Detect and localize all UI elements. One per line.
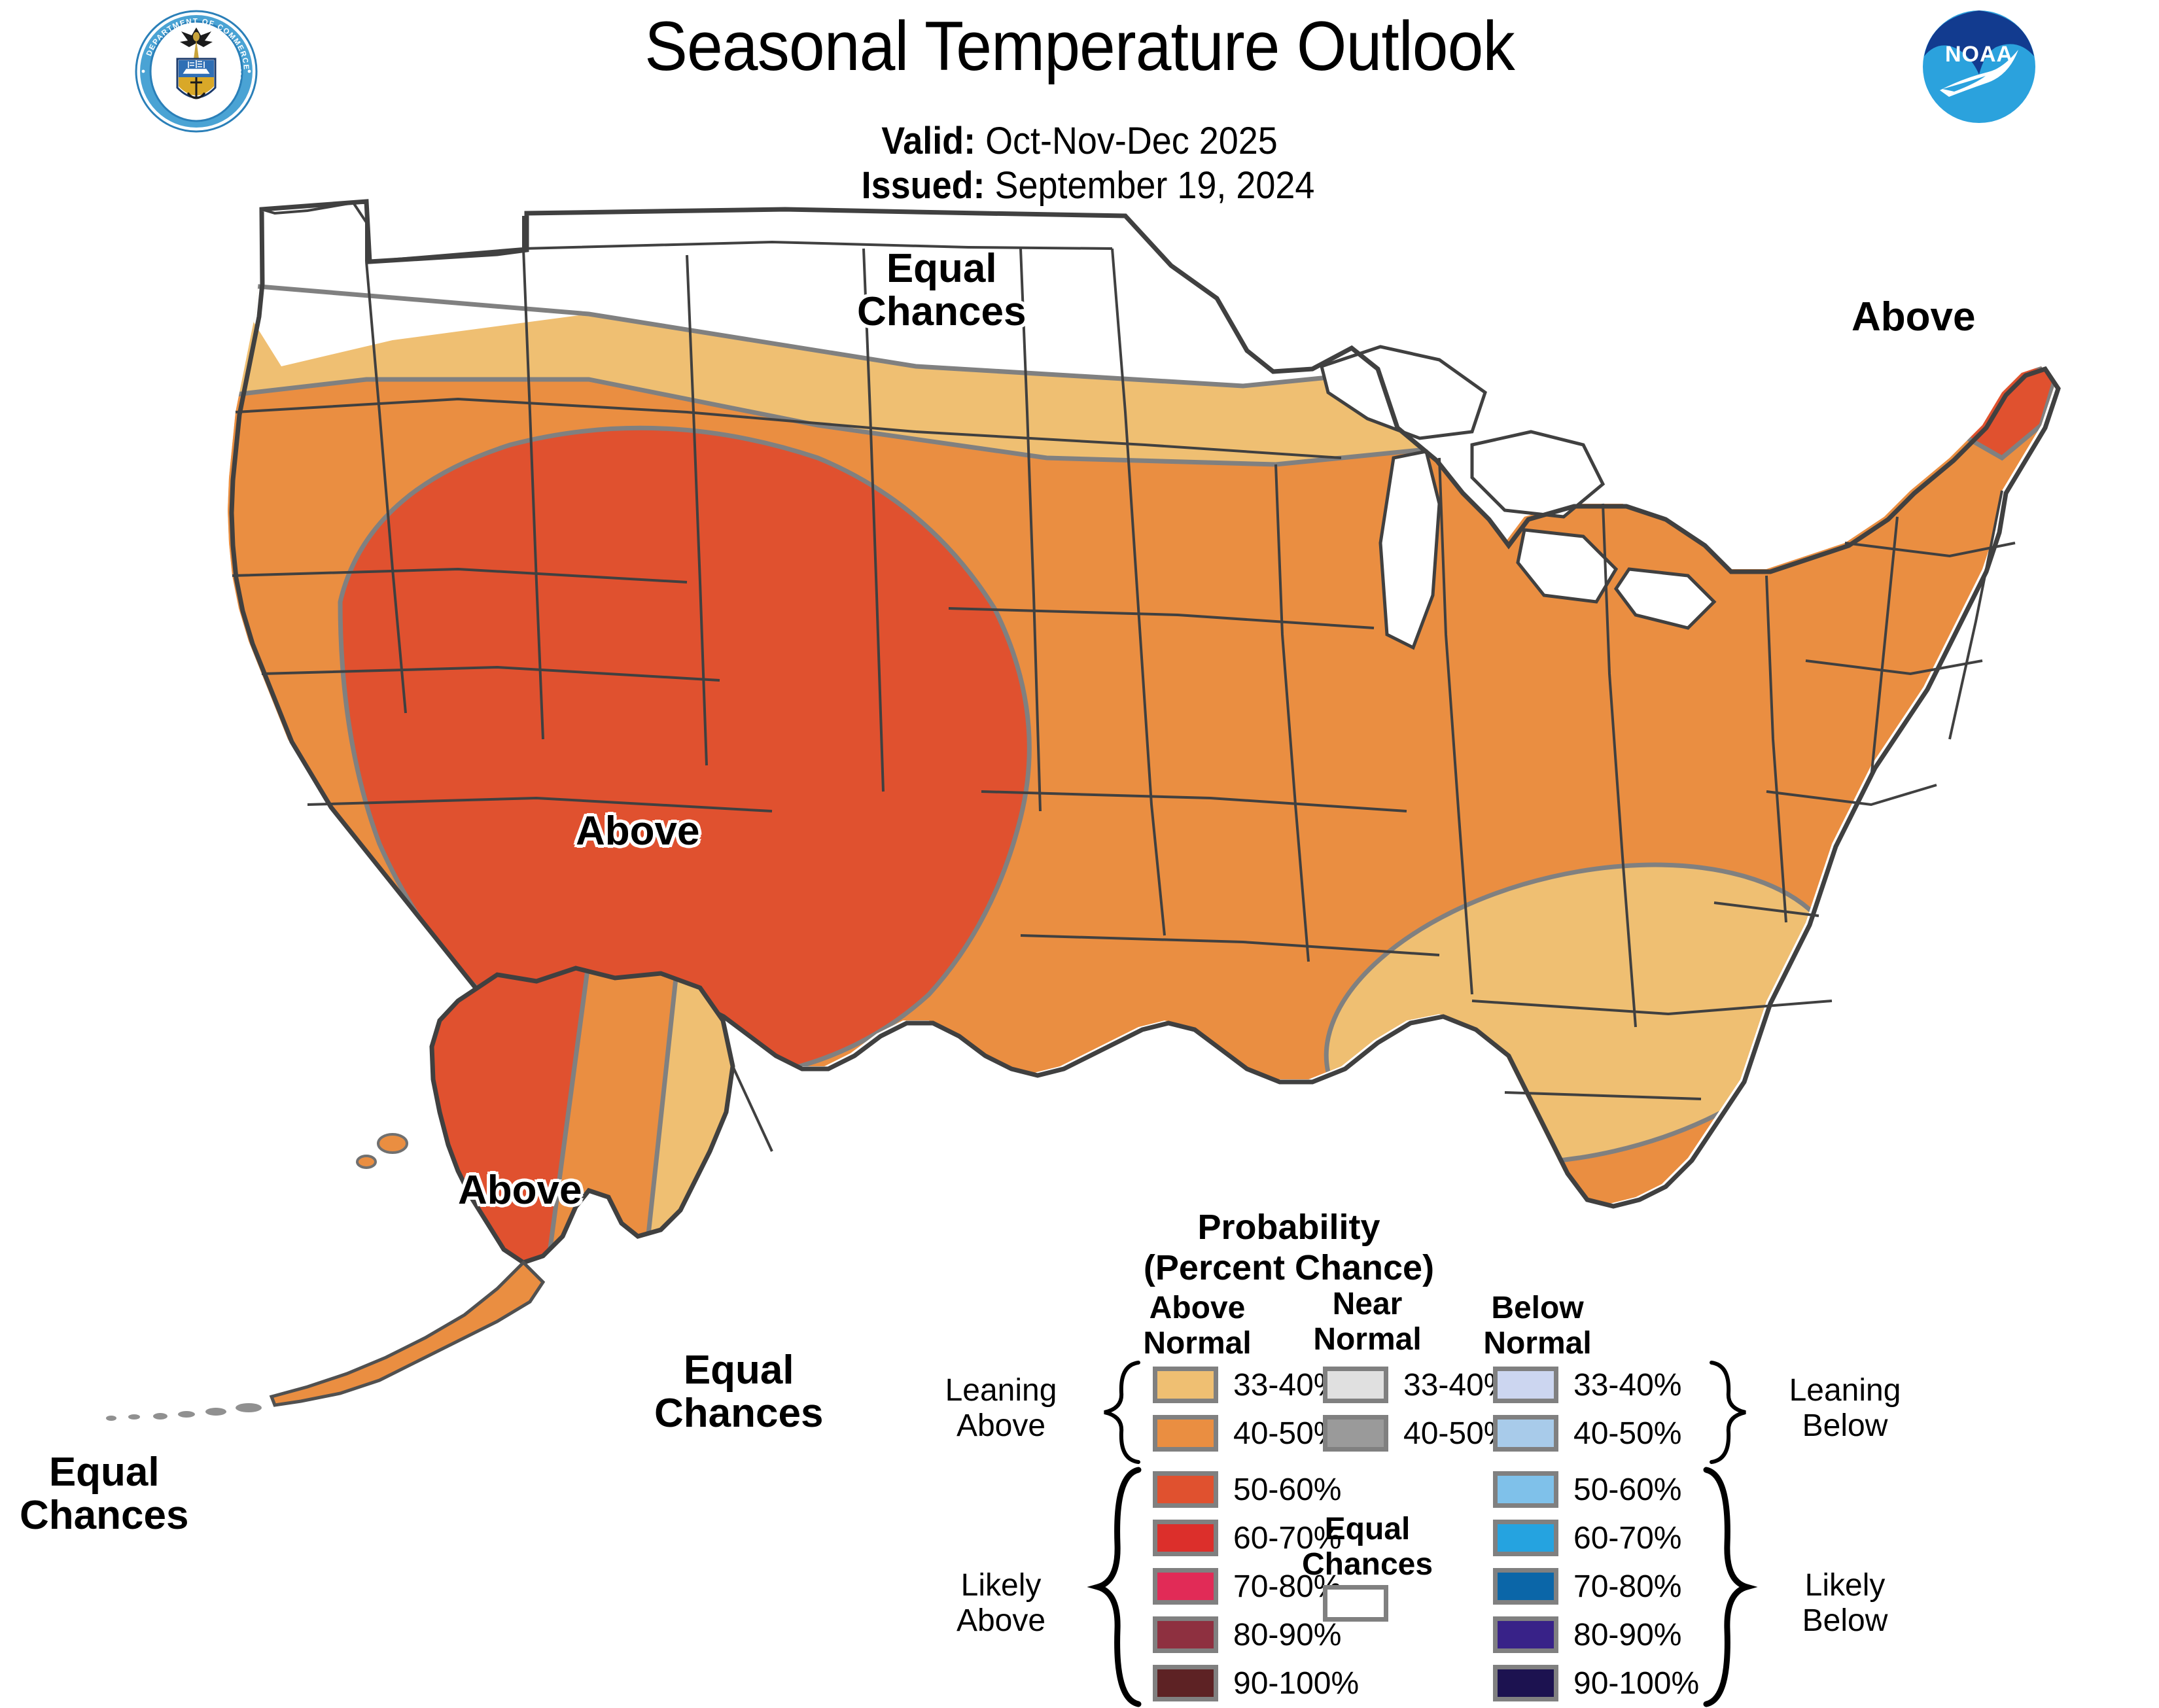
leaning-above-line1: Leaning <box>916 1373 1086 1408</box>
leaning-below-line2: Below <box>1760 1408 1930 1444</box>
legend-swatch-below-60-70 <box>1493 1520 1558 1556</box>
legend-label-below-70-80: 70-80% <box>1573 1571 1681 1603</box>
likely-below-line1: Likely <box>1760 1568 1930 1603</box>
legend-brace-label-likely-below: Likely Below <box>1760 1568 1930 1639</box>
legend-swatch-above-60-70 <box>1153 1520 1218 1556</box>
legend-label-below-33-40: 33-40% <box>1573 1369 1681 1402</box>
legend-ec-line1: Equal <box>1289 1512 1446 1547</box>
legend-swatch-below-70-80 <box>1493 1568 1558 1605</box>
legend: Probability (Percent Chance) Above Norma… <box>1008 1207 1878 1658</box>
leaning-above-line2: Above <box>916 1408 1086 1444</box>
legend-label-below-60-70: 60-70% <box>1573 1522 1681 1555</box>
legend-label-above-90-100: 90-100% <box>1233 1667 1359 1700</box>
colhead-near-line2: Normal <box>1289 1322 1446 1357</box>
colhead-above-line2: Normal <box>1119 1326 1276 1361</box>
aleutian-islands <box>106 1403 262 1421</box>
map-label-above-northeast: Above <box>1852 296 1975 339</box>
legend-swatch-above-50-60 <box>1153 1471 1218 1508</box>
brace-likely-above-icon <box>1086 1466 1144 1708</box>
likely-above-line1: Likely <box>916 1568 1086 1603</box>
legend-label-above-80-90: 80-90% <box>1233 1619 1341 1652</box>
alaska-aleutian-chain <box>272 1263 543 1405</box>
legend-swatch-below-33-40 <box>1493 1367 1558 1403</box>
legend-colhead-above-normal: Above Normal <box>1119 1291 1276 1361</box>
legend-label-above-50-60: 50-60% <box>1233 1474 1341 1507</box>
map-label-above-alaska: Above <box>458 1169 582 1212</box>
brace-likely-below-icon <box>1701 1466 1759 1708</box>
legend-colhead-below-normal: Below Normal <box>1459 1291 1616 1361</box>
legend-brace-label-likely-above: Likely Above <box>916 1568 1086 1639</box>
likely-below-line2: Below <box>1760 1603 1930 1639</box>
brace-leaning-below-icon <box>1706 1360 1759 1465</box>
legend-title-line2: (Percent Chance) <box>1079 1247 1498 1288</box>
legend-swatch-near-40-50 <box>1323 1415 1388 1452</box>
legend-label-below-50-60: 50-60% <box>1573 1474 1681 1507</box>
outlook-page: DEPARTMENT OF COMMERCE UNITED STATES OF … <box>0 0 2159 1668</box>
colhead-below-line2: Normal <box>1459 1326 1616 1361</box>
legend-label-below-40-50: 40-50% <box>1573 1418 1681 1450</box>
map-label-equal-chances-northern-plains: EqualChances <box>857 247 1026 334</box>
colhead-below-line1: Below <box>1459 1291 1616 1326</box>
map-label-above-southwest: Above <box>576 810 699 853</box>
legend-swatch-equal-chances <box>1323 1585 1388 1622</box>
legend-swatch-above-70-80 <box>1153 1568 1218 1605</box>
page-title: Seasonal Temperature Outlook <box>86 5 2073 86</box>
likely-above-line2: Above <box>916 1603 1086 1639</box>
legend-swatch-above-33-40 <box>1153 1367 1218 1403</box>
legend-colhead-near-normal: Near Normal <box>1289 1287 1446 1357</box>
legend-equal-chances-label: Equal Chances <box>1289 1512 1446 1582</box>
brace-leaning-above-icon <box>1091 1360 1144 1465</box>
legend-swatch-below-80-90 <box>1493 1616 1558 1653</box>
legend-swatch-above-40-50 <box>1153 1415 1218 1452</box>
legend-label-below-80-90: 80-90% <box>1573 1619 1681 1652</box>
map-label-equal-chances-pacific: EqualChances <box>20 1451 188 1537</box>
legend-swatch-below-50-60 <box>1493 1471 1558 1508</box>
colhead-near-line1: Near <box>1289 1287 1446 1322</box>
legend-title-line1: Probability <box>1079 1207 1498 1247</box>
legend-swatch-below-90-100 <box>1493 1665 1558 1701</box>
colhead-above-line1: Above <box>1119 1291 1276 1326</box>
map-label-equal-chances-alaska: EqualChances <box>654 1349 823 1435</box>
legend-label-below-90-100: 90-100% <box>1573 1667 1699 1700</box>
legend-brace-label-leaning-above: Leaning Above <box>916 1373 1086 1444</box>
alaska-offshore-islands <box>357 1134 407 1168</box>
legend-swatch-below-40-50 <box>1493 1415 1558 1452</box>
legend-brace-label-leaning-below: Leaning Below <box>1760 1373 1930 1444</box>
leaning-below-line1: Leaning <box>1760 1373 1930 1408</box>
legend-ec-line2: Chances <box>1289 1547 1446 1582</box>
legend-swatch-above-80-90 <box>1153 1616 1218 1653</box>
legend-swatch-above-90-100 <box>1153 1665 1218 1701</box>
legend-swatch-near-33-40 <box>1323 1367 1388 1403</box>
legend-title: Probability (Percent Chance) <box>1079 1207 1498 1288</box>
